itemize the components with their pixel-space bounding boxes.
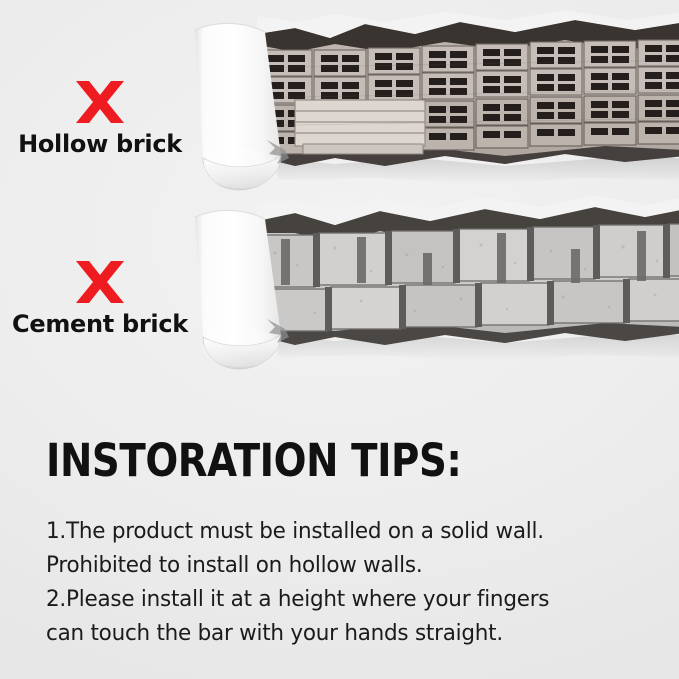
hollow-brick-reveal-band bbox=[185, 8, 679, 208]
tips-body: 1.The product must be installed on a sol… bbox=[46, 514, 646, 651]
red-x-icon bbox=[71, 258, 129, 306]
warning-cement-brick: Cement brick bbox=[0, 258, 200, 338]
red-x-icon bbox=[71, 78, 129, 126]
installation-tips-section: INSTORATION TIPS: 1.The product must be … bbox=[46, 438, 646, 651]
warning-hollow-brick: Hollow brick bbox=[0, 78, 200, 158]
cement-block-texture bbox=[245, 203, 679, 358]
cement-brick-reveal-band bbox=[185, 193, 679, 378]
product-instruction-graphic: Hollow brick Cement brick INSTORATION TI… bbox=[0, 0, 679, 679]
hollow-brick-texture bbox=[245, 16, 679, 176]
warning-label-hollow: Hollow brick bbox=[0, 130, 200, 158]
tip-line: 1.The product must be installed on a sol… bbox=[46, 514, 619, 548]
warning-label-cement: Cement brick bbox=[0, 310, 200, 338]
brick-slab-stack bbox=[295, 100, 425, 154]
hollow-brick-illustration bbox=[185, 8, 679, 208]
tip-line: can touch the bar with your hands straig… bbox=[46, 616, 619, 650]
tip-line: Prohibited to install on hollow walls. bbox=[46, 548, 619, 582]
cement-brick-illustration bbox=[185, 193, 679, 378]
tips-heading: INSTORATION TIPS: bbox=[46, 438, 562, 484]
tip-line: 2.Please install it at a height where yo… bbox=[46, 582, 619, 616]
